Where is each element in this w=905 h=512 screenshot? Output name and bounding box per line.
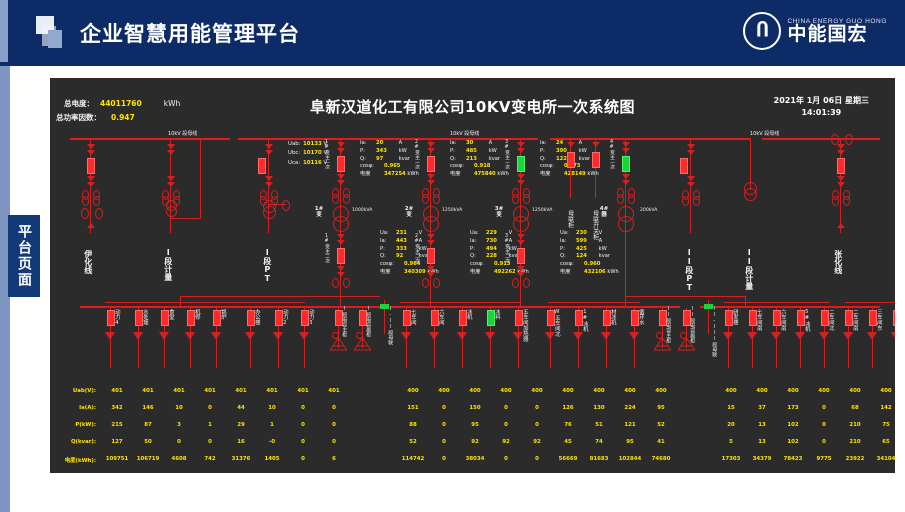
circuit-breaker-2[interactable] <box>427 156 435 172</box>
hv-cell-label-3: 3#变主一次 <box>504 140 509 169</box>
feeder-ct-triangle-1 <box>105 332 115 340</box>
isolator-arrow-down <box>87 176 95 181</box>
lv-cell-readout-3: Ua:230 VIa:599 AP:425 kWQ:124 kvarcosφ:0… <box>560 230 619 277</box>
pf-value: 0.960 <box>584 261 605 269</box>
transformer-name-2: 2#变 <box>403 206 415 219</box>
isolator-arrow-down <box>687 144 695 149</box>
voltage-transformer <box>166 206 177 217</box>
circuit-breaker-3[interactable] <box>517 156 525 172</box>
table-cell-g1-ia-3: 10 <box>166 405 192 411</box>
table-cell-g1-uab-4: 401 <box>197 388 223 394</box>
clock-date: 2021年 1月 06日 星期三 <box>774 95 869 107</box>
table-cell-g1-uab-1: 401 <box>104 388 130 394</box>
feeder-label-2: 水处理 <box>141 309 147 325</box>
cap-label-10: I段电容副柜 <box>365 306 370 337</box>
table-cell-g2-ia-9: 95 <box>648 405 674 411</box>
table-cell-g3-p-4: 0 <box>811 422 837 428</box>
transformer-winding-lv-2 <box>423 216 439 232</box>
table-cell-g2-uab-7: 400 <box>586 388 612 394</box>
tx-to-lvbus-1 <box>340 288 341 308</box>
lv-cell-label-2: 2#变主二次 <box>414 234 419 263</box>
current-transformer <box>422 194 429 204</box>
table-cell-g2-q-7: 74 <box>586 439 612 445</box>
lv-busbar-1 <box>80 306 380 308</box>
pt-fuse <box>680 158 688 174</box>
p-value: 343 <box>376 148 397 156</box>
isolator-arrow-down <box>427 148 435 153</box>
feeder-label-14: 冰机 <box>465 309 471 320</box>
feeder-tail-17 <box>550 340 551 368</box>
incomer-label-i-metering: I段计量 <box>163 248 172 281</box>
p-value: 485 <box>466 148 487 156</box>
table-cell-g1-q-8: 0 <box>321 439 347 445</box>
feeder-tail-1 <box>110 340 111 368</box>
feeder-ct-triangle-30 <box>867 332 877 340</box>
table-cell-g2-q-9: 41 <box>648 439 674 445</box>
table-row-label-5: 电度(kWh): <box>50 456 96 464</box>
feeder-ct-triangle-26 <box>771 332 781 340</box>
energy-value: 340309 <box>404 269 426 277</box>
table-cell-g2-e-1: 114742 <box>396 456 430 462</box>
feeder-label-27: 5#冰机 <box>803 309 809 332</box>
bus-tie-line <box>200 138 201 218</box>
feeder-label-1: 动力4 <box>113 309 119 326</box>
isolator-arrow-down <box>427 174 435 179</box>
lightning-arrester <box>95 208 103 219</box>
isolator-arrow-down <box>265 150 273 155</box>
feeder-ct-triangle-18 <box>573 332 583 340</box>
isolator-arrow-down <box>592 142 600 147</box>
table-cell-g1-p-6: 1 <box>259 422 285 428</box>
feeder-collector-4 <box>548 302 640 303</box>
table-cell-g3-uab-4: 400 <box>811 388 837 394</box>
table-cell-g1-e-8: 6 <box>317 456 351 462</box>
isolator-arrow-down <box>337 180 345 185</box>
ubc-value: 10170 <box>303 150 322 156</box>
table-cell-g2-uab-6: 400 <box>555 388 581 394</box>
isolator-arrow-down <box>687 176 695 181</box>
isolator-arrow-down <box>337 266 345 271</box>
tx-to-lvbus-3 <box>520 288 521 308</box>
lightning-arrester <box>831 134 839 145</box>
table-cell-g1-p-7: 0 <box>290 422 316 428</box>
feeder-collector-2 <box>245 302 305 303</box>
transformer-rating-2: 1250kVA <box>442 208 462 213</box>
isolator-arrow-down <box>337 234 345 239</box>
feeder-label-8: 动力3 <box>307 309 313 326</box>
table-cell-g1-e-6: 1405 <box>255 456 289 462</box>
isolator-arrow-down <box>517 234 525 239</box>
cap-label-21: II段电容主柜 <box>665 306 670 343</box>
feeder-label-25: 七车间南 <box>755 309 761 331</box>
app-header: 企业智慧用能管理平台 Ⴖ CHINA ENERGY GUO HONG 中能国宏 <box>0 0 905 62</box>
table-row-label-3: P(kW): <box>50 422 96 428</box>
table-row-label-1: Uab(V): <box>50 388 96 394</box>
table-cell-g3-ia-4: 0 <box>811 405 837 411</box>
table-cell-g2-p-9: 52 <box>648 422 674 428</box>
table-cell-g2-p-8: 121 <box>617 422 643 428</box>
feeder-tail-15 <box>490 340 491 368</box>
table-cell-g2-uab-5: 400 <box>524 388 550 394</box>
isolator-arrow-down <box>167 150 175 155</box>
feeder-ct-triangle-13 <box>429 332 439 340</box>
current-transformer <box>617 194 624 204</box>
lv-cell-label-1: 1#变主二次 <box>324 234 329 263</box>
isolator-arrow-down <box>517 180 525 185</box>
tx-to-lvbus-2 <box>430 288 431 308</box>
table-cell-g2-e-7: 81683 <box>582 456 616 462</box>
table-cell-g3-uab-5: 400 <box>842 388 868 394</box>
feeder-ct-triangle-20 <box>629 332 639 340</box>
table-cell-g1-uab-5: 401 <box>228 388 254 394</box>
energy-value: 428149 <box>564 171 586 179</box>
lv-breaker-2[interactable] <box>427 248 435 264</box>
circuit-breaker-1[interactable] <box>337 156 345 172</box>
bus-tie-label-23: II-III段母联 <box>711 306 716 357</box>
table-cell-g1-ia-5: 44 <box>228 405 254 411</box>
tie-breaker-2[interactable] <box>592 152 600 168</box>
hv-tie-line-1 <box>570 138 571 198</box>
feeder-ct-triangle-12 <box>401 332 411 340</box>
table-cell-g1-ia-1: 342 <box>104 405 130 411</box>
table-cell-g3-e-2: 34379 <box>745 456 779 462</box>
isolator-arrow-down <box>687 182 695 187</box>
current-transformer <box>433 278 440 288</box>
table-cell-g2-p-3: 95 <box>462 422 488 428</box>
current-transformer <box>523 278 530 288</box>
table-cell-g3-p-5: 210 <box>842 422 868 428</box>
table-cell-g2-q-8: 95 <box>617 439 643 445</box>
table-cell-g2-q-4: 92 <box>493 439 519 445</box>
table-cell-g3-uab-6: 400 <box>873 388 895 394</box>
table-cell-g2-q-2: 0 <box>431 439 457 445</box>
feeder-tail-25 <box>752 340 753 368</box>
table-cell-g3-uab-2: 400 <box>749 388 775 394</box>
table-cell-g2-p-4: 0 <box>493 422 519 428</box>
table-cell-g2-q-6: 45 <box>555 439 581 445</box>
table-cell-g2-uab-1: 400 <box>400 388 426 394</box>
earth-arrow <box>837 223 845 228</box>
hv-busbar-4 <box>762 138 880 140</box>
isolator-arrow-down <box>427 240 435 245</box>
feeder-label-15: 冰料 <box>493 309 499 320</box>
table-cell-g2-e-9: 74680 <box>644 456 678 462</box>
current-transformer <box>512 278 519 288</box>
hv-cell-readout-2: Ia:30 AP:485 kWQ:213 kvarcosφ:0.918电度475… <box>450 140 509 179</box>
feeder-ct-triangle-2 <box>133 332 143 340</box>
transformer-rating-4: 200kVA <box>640 208 657 213</box>
pf-value: 0.965 <box>384 163 405 171</box>
brand-logo-group: Ⴖ CHINA ENERGY GUO HONG 中能国宏 <box>743 11 887 51</box>
hv-bus-label-2: 10kV 段母线 <box>450 130 479 137</box>
feeder-collector-6 <box>845 302 895 303</box>
feeder-label-6: 办公楼 <box>253 309 259 325</box>
transformer-winding-lv-3 <box>513 216 529 232</box>
table-cell-g3-q-5: 210 <box>842 439 868 445</box>
feeder-tail-4 <box>190 340 191 368</box>
table-cell-g1-ia-6: 10 <box>259 405 285 411</box>
hv-busbar-1 <box>70 138 230 140</box>
feeder-tail-5 <box>216 340 217 368</box>
feeder-tail-24 <box>728 340 729 368</box>
feeder-ct-triangle-6 <box>245 332 255 340</box>
table-cell-g2-ia-1: 151 <box>400 405 426 411</box>
lightning-arrester <box>845 134 853 145</box>
table-cell-g3-e-6: 34104 <box>869 456 895 462</box>
table-cell-g2-p-1: 88 <box>400 422 426 428</box>
table-cell-g3-e-4: 9775 <box>807 456 841 462</box>
isolator-arrow-down <box>517 272 525 277</box>
header-accent-bar <box>0 0 8 62</box>
current-transformer <box>82 196 89 206</box>
hv-bus-label-3: 10kV 段母线 <box>750 130 779 137</box>
table-cell-g2-uab-4: 400 <box>493 388 519 394</box>
table-cell-g1-p-1: 215 <box>104 422 130 428</box>
brand-name-cn: 中能国宏 <box>787 25 887 45</box>
uca-value: 10116 <box>303 160 322 166</box>
q-value: 213 <box>466 156 487 164</box>
ubc-key: Ubc: <box>288 149 303 158</box>
diagram-title: 阜新汉道化工有限公司10KV变电所一次系统图 <box>50 96 895 117</box>
table-cell-g1-p-5: 29 <box>228 422 254 428</box>
lv-riser-1 <box>180 296 380 297</box>
table-cell-g2-ia-2: 0 <box>431 405 457 411</box>
current-transformer <box>832 196 839 206</box>
isolator-arrow-down <box>87 144 95 149</box>
feeder-label-24: 研发楼 <box>731 309 737 325</box>
energy-value: 475840 <box>474 171 496 179</box>
transformer-rating-1: 1000kVA <box>352 208 372 213</box>
table-cell-g2-p-5: 0 <box>524 422 550 428</box>
table-cell-g1-uab-2: 401 <box>135 388 161 394</box>
sidebar-tab-platform-page[interactable]: 平台页面 <box>8 215 40 297</box>
hv-tie-line-2 <box>595 138 596 198</box>
table-cell-g3-p-3: 102 <box>780 422 806 428</box>
feeder-tail-19 <box>606 340 607 368</box>
lv-breaker-3[interactable] <box>517 248 525 264</box>
transformer-name-3: 3#变 <box>493 206 505 219</box>
lightning-arrester <box>282 200 290 211</box>
uab-value: 10133 <box>303 141 322 147</box>
current-transformer <box>693 196 700 206</box>
table-cell-g1-p-2: 87 <box>135 422 161 428</box>
tie-breaker-1[interactable] <box>567 152 575 168</box>
table-cell-g2-uab-2: 400 <box>431 388 457 394</box>
table-cell-g3-uab-1: 400 <box>718 388 744 394</box>
hv-cell-label-4: 4#变主一次 <box>609 140 614 169</box>
clock-time: 14:01:39 <box>774 107 869 119</box>
isolator-arrow-down <box>837 150 845 155</box>
table-cell-g1-uab-3: 401 <box>166 388 192 394</box>
feeder-label-12: 七车间 <box>409 309 415 325</box>
feeder-ct-triangle-7 <box>273 332 283 340</box>
isolator-arrow-down <box>167 144 175 149</box>
transformer-winding-lv-1 <box>333 216 349 232</box>
feeder-label-20: 循环水 <box>637 309 643 325</box>
circuit-breaker-4[interactable] <box>622 156 630 172</box>
table-cell-g2-e-2: 0 <box>427 456 461 462</box>
pf-value: 0.918 <box>474 163 495 171</box>
voltage-transformer <box>263 206 276 219</box>
feeder-label-3: 食堂 <box>167 309 173 320</box>
ua-value: 230 <box>576 230 597 238</box>
isolator-arrow-down <box>622 174 630 179</box>
feeder-collector-3 <box>400 302 520 303</box>
isolator-arrow-down <box>687 150 695 155</box>
current-transformer <box>343 194 350 204</box>
table-cell-g2-e-6: 56669 <box>551 456 585 462</box>
table-cell-g1-q-7: 0 <box>290 439 316 445</box>
hv-cell-label-2: 2#变主一次 <box>414 140 419 169</box>
feeder-tail-28 <box>824 340 825 368</box>
table-cell-g1-ia-7: 0 <box>290 405 316 411</box>
isolator-arrow-down <box>87 150 95 155</box>
brand-circle-icon: Ⴖ <box>743 12 781 50</box>
table-cell-g1-ia-4: 0 <box>197 405 223 411</box>
hv-cell-readout-1: Ia:20 AP:343 kWQ:97 kvarcosφ:0.965电度3472… <box>360 140 419 179</box>
energy-value: 347254 <box>384 171 406 179</box>
table-cell-g1-q-3: 0 <box>166 439 192 445</box>
feeder-ct-triangle-27 <box>795 332 805 340</box>
table-cell-g1-e-7: 0 <box>286 456 320 462</box>
table-cell-g3-p-1: 20 <box>718 422 744 428</box>
isolator-arrow-down <box>517 240 525 245</box>
table-cell-g1-e-5: 31376 <box>224 456 258 462</box>
table-cell-g3-q-3: 102 <box>780 439 806 445</box>
feeder-tail-29 <box>848 340 849 368</box>
table-cell-g3-p-6: 75 <box>873 422 895 428</box>
current-transformer <box>523 194 530 204</box>
hv-drop-line <box>90 206 91 232</box>
feeder-label-17: W五车间北 <box>553 309 559 337</box>
feeder-label-5: 锅炉 <box>219 309 225 320</box>
table-cell-g2-e-5: 0 <box>520 456 554 462</box>
table-row-label-4: Q(kvar): <box>50 439 96 445</box>
incomer-label-zhanghua: 张化线 <box>833 250 842 274</box>
feeder-tail-27 <box>800 340 801 368</box>
feeder-ct-triangle-4 <box>185 332 195 340</box>
feeder-ct-triangle-19 <box>601 332 611 340</box>
feeder-breaker-31[interactable] <box>893 310 895 326</box>
cap-label-9: I段电容主柜 <box>341 306 346 337</box>
isolator-arrow-down <box>427 180 435 185</box>
lv-riser-2 <box>625 296 745 297</box>
table-cell-g3-q-2: 13 <box>749 439 775 445</box>
isolator-arrow-down <box>427 234 435 239</box>
feeder-tail-20 <box>634 340 635 368</box>
energy-value: 492262 <box>494 269 516 277</box>
pt-fuse <box>258 158 266 174</box>
hv-tie-label-1: 母联柜 <box>566 210 573 228</box>
isolator-arrow-down <box>517 142 525 147</box>
current-transformer <box>332 194 339 204</box>
isolator-arrow-down <box>517 174 525 179</box>
hv-bus-label-1: 10kV 段母线 <box>168 130 197 137</box>
earth-arrow <box>87 223 95 228</box>
isolator-arrow-down <box>265 144 273 149</box>
transformer-winding-lv <box>618 216 634 232</box>
isolator-arrow-down <box>337 174 345 179</box>
table-cell-g2-ia-7: 130 <box>586 405 612 411</box>
transformer-name-4: 4#器 <box>598 206 610 219</box>
isolator-arrow-down <box>517 148 525 153</box>
q-value: 124 <box>576 253 597 261</box>
table-cell-g2-e-3: 38034 <box>458 456 492 462</box>
table-cell-g1-uab-8: 401 <box>321 388 347 394</box>
table-cell-g3-ia-2: 37 <box>749 405 775 411</box>
isolator-arrow-down <box>837 182 845 187</box>
clock-readout: 2021年 1月 06日 星期三 14:01:39 <box>774 95 869 118</box>
ia-value: 20 <box>376 140 397 148</box>
table-cell-g3-e-3: 78423 <box>776 456 810 462</box>
energy-value: 432106 <box>584 269 606 277</box>
table-row-label-2: Ia(A): <box>50 405 96 411</box>
feeder-tail-8 <box>304 340 305 368</box>
isolator-arrow-down <box>567 142 575 147</box>
feeder-ct-triangle-29 <box>843 332 853 340</box>
table-cell-g2-ia-4: 0 <box>493 405 519 411</box>
table-cell-g2-e-4: 0 <box>489 456 523 462</box>
table-cell-g1-p-8: 0 <box>321 422 347 428</box>
table-cell-g1-q-2: 50 <box>135 439 161 445</box>
table-cell-g2-p-7: 51 <box>586 422 612 428</box>
table-cell-g1-q-5: 16 <box>228 439 254 445</box>
feeder-label-26: 六车间南 <box>779 309 785 331</box>
circuit-breaker <box>87 158 95 174</box>
table-cell-g2-ia-6: 126 <box>555 405 581 411</box>
pt-tie-line <box>268 204 286 205</box>
single-line-diagram-panel: 总电度：44011760kWh 总功率因数：0.947 阜新汉道化工有限公司10… <box>50 78 895 473</box>
bus-tie-label-11: I-II段母联 <box>387 306 392 345</box>
lv-breaker-1[interactable] <box>337 248 345 264</box>
table-cell-g2-q-3: 92 <box>462 439 488 445</box>
brand-glyph: Ⴖ <box>756 22 768 41</box>
feeder-label-30: 三车间东 <box>875 309 881 331</box>
table-cell-g3-q-6: 65 <box>873 439 895 445</box>
feeder-ct-triangle-8 <box>299 332 309 340</box>
feeder-label-4: 机修 <box>193 309 199 320</box>
transformer-rating-3: 1250kVA <box>532 208 552 213</box>
table-cell-g1-ia-2: 146 <box>135 405 161 411</box>
table-cell-g3-ia-1: 15 <box>718 405 744 411</box>
feeder-tail-7 <box>278 340 279 368</box>
measurement-table: Uab(V):Ia(A):P(kW):Q(kvar):电度(kWh):40140… <box>50 383 895 473</box>
current-transformer <box>433 194 440 204</box>
tx-to-lvbus-4 <box>625 288 626 308</box>
current-transformer <box>512 194 519 204</box>
feeder-ct-triangle-3 <box>159 332 169 340</box>
feeder-tail-3 <box>164 340 165 368</box>
feeder-tail-30 <box>872 340 873 368</box>
table-cell-g3-e-1: 17303 <box>714 456 748 462</box>
table-cell-g3-ia-6: 142 <box>873 405 895 411</box>
app-title: 企业智慧用能管理平台 <box>80 18 300 48</box>
header-divider <box>0 62 905 66</box>
cap-label-22: II段电容副柜 <box>689 306 694 343</box>
isolator-arrow-down <box>622 180 630 185</box>
uab-key: Uab: <box>288 140 303 149</box>
feeder-tail-2 <box>138 340 139 368</box>
voltage-transformer <box>744 188 757 201</box>
table-cell-g1-q-1: 127 <box>104 439 130 445</box>
uca-key: Uca: <box>288 159 303 168</box>
table-cell-g1-e-4: 742 <box>193 456 227 462</box>
table-cell-g2-uab-8: 400 <box>617 388 643 394</box>
feeder-ct-triangle-25 <box>747 332 757 340</box>
feeder-tail-13 <box>434 340 435 368</box>
table-cell-g3-e-5: 23922 <box>838 456 872 462</box>
ia-value: 30 <box>466 140 487 148</box>
